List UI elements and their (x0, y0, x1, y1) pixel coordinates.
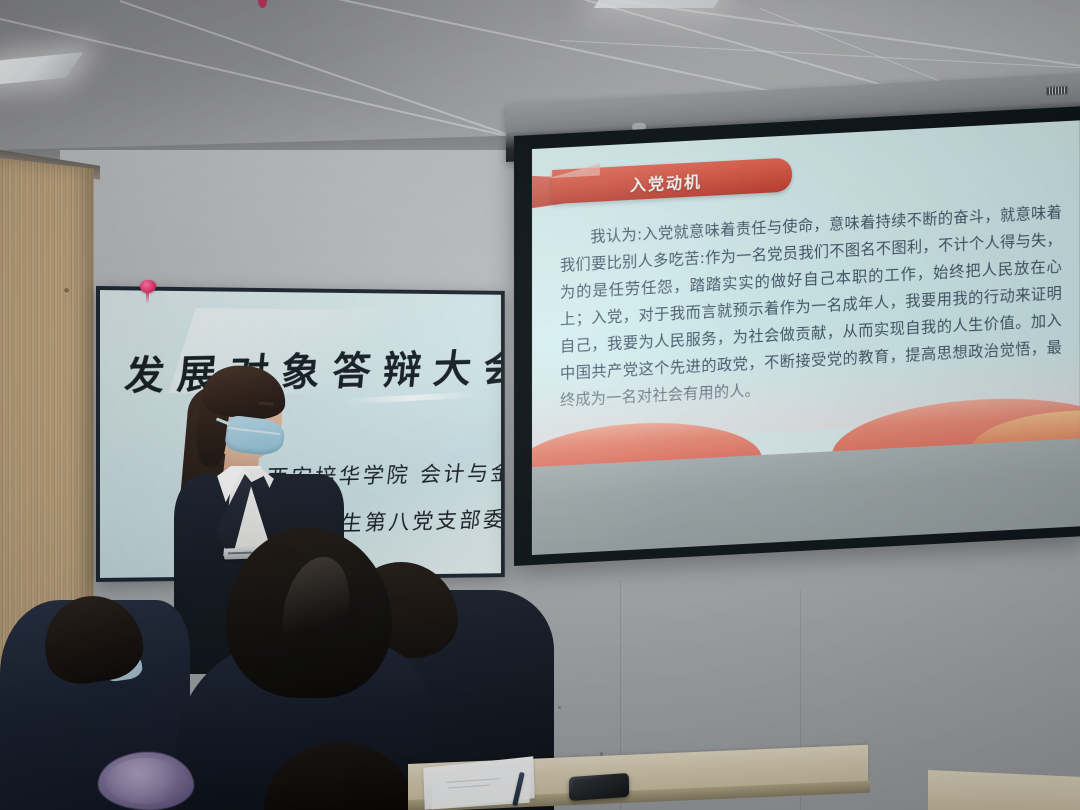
presenter-hair-top (200, 362, 288, 421)
smartphone-screen[interactable] (573, 776, 625, 797)
slide-banner: 入党动机 (532, 157, 794, 211)
wood-panel-screw (64, 288, 69, 293)
side-desk (928, 770, 1080, 810)
slide-banner-title: 入党动机 (630, 168, 702, 196)
wall-mark (600, 752, 603, 756)
flower-magnet-ribbon (146, 292, 149, 304)
classroom-photo-scene: 发展对象答辩大会 西安培华学院 会计与金融学院 学生第八党支部委员会 入党动机 … (0, 0, 1080, 810)
purple-hair-accessory-fuzz (106, 758, 186, 804)
projected-slide: 入党动机 我认为:入党就意味着责任与使命，意味着持续不断的奋斗，就意味着我们要比… (532, 120, 1080, 555)
projector-screen: 入党动机 我认为:入党就意味着责任与使命，意味着持续不断的奋斗，就意味着我们要比… (514, 106, 1080, 566)
wall-mark (558, 706, 561, 709)
ceiling-light-fixture (594, 0, 726, 8)
housing-label-icon (1046, 86, 1068, 96)
